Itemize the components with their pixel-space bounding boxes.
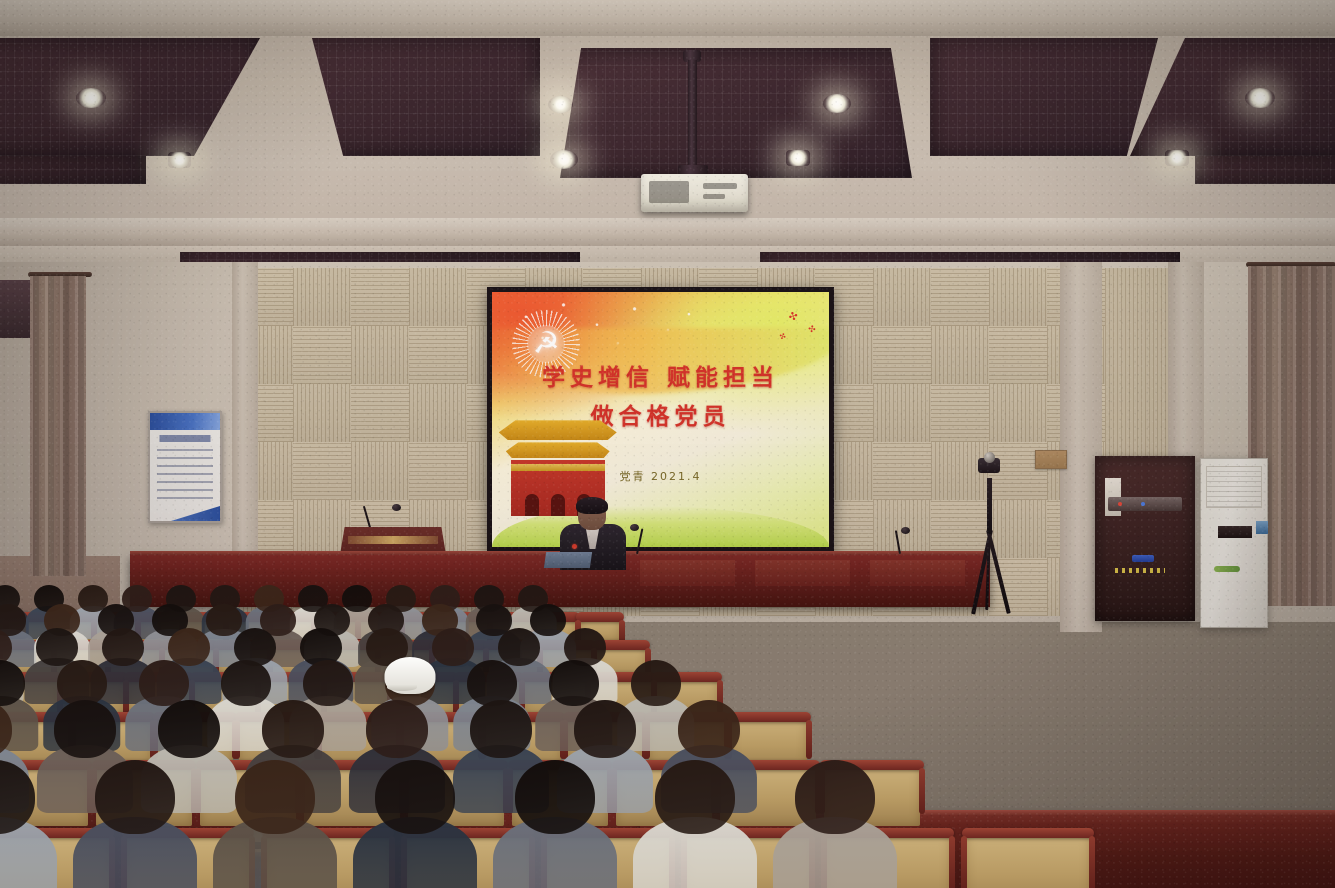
chair-armrest: [1089, 836, 1095, 888]
audience-member: [95, 760, 175, 888]
acoustic-tile: [409, 268, 467, 326]
projector-mount-bracket: [678, 165, 708, 174]
rack-led-strip: [1115, 568, 1165, 573]
acoustic-tile: [989, 268, 1047, 326]
air-conditioner-display: [1218, 526, 1252, 538]
chair-wood-frame: [962, 828, 1094, 838]
projector-mount-pole: [688, 60, 697, 170]
audience-head: [102, 628, 144, 666]
rack-status-led: [1141, 502, 1145, 506]
audience-head: [678, 700, 740, 758]
party-lapel-pin: [572, 544, 577, 549]
audience-head: [795, 760, 875, 834]
ceiling-spotlight: [76, 88, 106, 108]
acoustic-tile: [873, 384, 931, 442]
audience-head: [0, 760, 35, 834]
gate-lower-roof: [506, 442, 610, 458]
ceiling-coffer-panel: [0, 38, 260, 156]
audience-head: [631, 660, 681, 706]
ceiling-beam-middle: [0, 218, 1335, 246]
bird-icon: ✣: [807, 325, 816, 335]
projection-screen: ☭ ✣ ✣ ✣ 学史增信 赋能担当 做合格党员 党青 2021.4: [492, 292, 829, 547]
lecture-hall-photo: ☭ ✣ ✣ ✣ 学史增信 赋能担当 做合格党员 党青 2021.4: [0, 0, 1335, 888]
hammer-sickle-icon: ☭: [533, 329, 560, 359]
slide-title-line-1: 学史增信 赋能担当: [492, 358, 829, 392]
audience-head: [54, 700, 116, 758]
gate-gold-band: [511, 464, 605, 471]
acoustic-tile: [409, 326, 467, 384]
audience-member: [655, 760, 735, 888]
acoustic-tile: [931, 384, 989, 442]
audience-head: [515, 760, 595, 834]
wall-notice-poster: [148, 411, 222, 523]
poster-footer-band: [150, 506, 220, 521]
chair-armrest: [949, 836, 955, 888]
acoustic-tile: [409, 442, 467, 500]
table-microphone-head: [630, 524, 639, 531]
acoustic-tile: [293, 384, 351, 442]
ceiling-spotlight: [1245, 88, 1275, 108]
audience-chair: [966, 828, 1090, 888]
presenter-laptop: [544, 552, 592, 568]
projection-screen-frame: ☭ ✣ ✣ ✣ 学史增信 赋能担当 做合格党员 党青 2021.4: [487, 287, 834, 552]
audience-member: [631, 660, 681, 758]
acoustic-tile: [293, 442, 351, 500]
acoustic-tile: [989, 500, 1047, 558]
window-recess: [0, 280, 30, 338]
head-table-panel: [870, 560, 965, 586]
acoustic-tile: [931, 500, 989, 558]
gate-upper-roof: [499, 420, 617, 440]
audience-member: [235, 760, 315, 888]
curtain-left: [30, 276, 86, 576]
poster-title-line: [156, 435, 214, 442]
ceiling-spotlight: [550, 150, 578, 169]
gate-arch: [551, 494, 565, 516]
acoustic-tile: [989, 384, 1047, 442]
gate-arch: [525, 494, 539, 516]
chair-armrest: [806, 720, 812, 759]
bird-icon: ✣: [788, 311, 800, 324]
audience-head: [262, 700, 324, 758]
acoustic-tile: [873, 268, 931, 326]
audience-head: [158, 700, 220, 758]
acoustic-tile: [351, 442, 409, 500]
wall-pillar: [232, 262, 258, 592]
audience-head: [655, 760, 735, 834]
audience-member: [515, 760, 595, 888]
acoustic-tile: [293, 268, 351, 326]
audience-member: [375, 760, 455, 888]
ceiling-coffer-panel: [560, 48, 912, 178]
poster-header-band: [150, 413, 220, 430]
audience-head: [574, 700, 636, 758]
chair-back-cushion: [966, 834, 1090, 888]
acoustic-tile: [409, 384, 467, 442]
chair-armrest: [961, 836, 967, 888]
rack-display: [1132, 555, 1154, 562]
rack-status-led: [1118, 502, 1122, 506]
poster-body-text: [157, 449, 213, 499]
projector-vent: [703, 194, 725, 199]
head-table-panel: [640, 560, 735, 586]
acoustic-tile: [351, 326, 409, 384]
acoustic-tile: [873, 326, 931, 384]
audience-member: [795, 760, 875, 888]
ceiling-coffer-panel: [300, 38, 540, 156]
ceiling-coffer-panel: [0, 156, 146, 184]
air-conditioner-badge: [1256, 521, 1268, 534]
acoustic-tile: [931, 326, 989, 384]
audience-head: [95, 760, 175, 834]
chair-wood-frame: [576, 612, 624, 622]
table-microphone-head: [901, 527, 910, 534]
acoustic-tile: [351, 268, 409, 326]
ceiling-coffer-panel: [930, 38, 1170, 156]
audience-member: [0, 760, 35, 888]
ceiling-spotlight: [786, 150, 810, 166]
audience-head: [470, 700, 532, 758]
wall-pillar: [1168, 262, 1204, 462]
tripod-column: [987, 478, 992, 534]
ceiling-spotlight: [823, 94, 851, 113]
head-table-panel: [755, 560, 850, 586]
camera-lens-icon: [984, 452, 995, 463]
projector-vent: [703, 183, 737, 189]
ceiling-spotlight: [1165, 150, 1189, 166]
ceiling-coffer-panel: [1130, 38, 1335, 156]
audience-head: [375, 760, 455, 834]
audience-head: [235, 760, 315, 834]
ceiling: [0, 0, 1335, 272]
ceiling-spotlight: [168, 152, 191, 168]
acoustic-tile: [931, 268, 989, 326]
chair-armrest: [919, 768, 925, 814]
air-conditioner-logo: [1214, 566, 1240, 572]
acoustic-tile: [351, 384, 409, 442]
ceiling-coffer-panel: [1195, 156, 1335, 184]
ceiling-spotlight: [548, 96, 573, 113]
lectern-name-plate: [348, 536, 438, 544]
acoustic-tile: [873, 442, 931, 500]
wall-plaque: [1035, 450, 1067, 469]
acoustic-tile: [989, 326, 1047, 384]
projector-lens-housing: [649, 181, 689, 203]
ceiling-beam-top: [0, 0, 1335, 36]
ceiling-projector: [641, 174, 748, 212]
air-conditioner-grille: [1206, 466, 1262, 508]
audience-head: [366, 700, 428, 758]
podium-microphone-head: [392, 504, 401, 511]
presenter-hair: [576, 497, 608, 514]
acoustic-tile: [293, 326, 351, 384]
